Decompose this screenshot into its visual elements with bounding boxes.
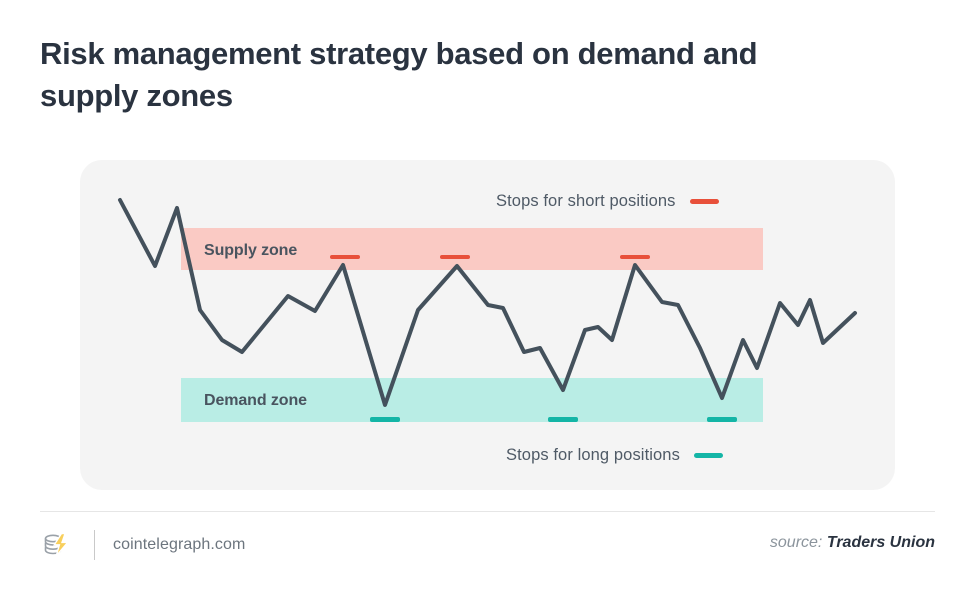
legend-item-short-stops: Stops for short positions [496,192,719,211]
legend-swatch-short-line [690,199,719,204]
infographic-page: Risk management strategy based on demand… [0,0,975,600]
price-line-chart [80,160,895,490]
footer-divider [40,511,935,512]
demand-zone-label: Demand zone [204,392,307,410]
stop-short-2 [440,255,470,259]
supply-zone-label: Supply zone [204,242,297,260]
legend-label-long-stops: Stops for long positions [506,446,680,465]
stop-long-3 [707,417,737,422]
price-line-path [120,200,855,405]
footer: cointelegraph.com source: Traders Union [40,528,935,568]
stop-long-1 [370,417,400,422]
source-name-label: Traders Union [827,534,935,551]
brand-divider [94,530,95,560]
stop-short-1 [330,255,360,259]
legend-swatch-long-line [694,453,723,458]
stop-short-3 [620,255,650,259]
page-title: Risk management strategy based on demand… [40,33,830,117]
chart-card: Supply zone Demand zone Stops for short … [80,160,895,490]
source-prefix-label: source: [770,534,827,551]
stop-long-2 [548,417,578,422]
legend-label-short-stops: Stops for short positions [496,192,676,211]
legend-item-long-stops: Stops for long positions [506,446,723,465]
source-attribution: source: Traders Union [770,534,935,552]
brand-block[interactable]: cointelegraph.com [40,528,245,562]
cointelegraph-coins-bolt-icon [40,528,74,562]
brand-name-label: cointelegraph.com [113,536,245,554]
